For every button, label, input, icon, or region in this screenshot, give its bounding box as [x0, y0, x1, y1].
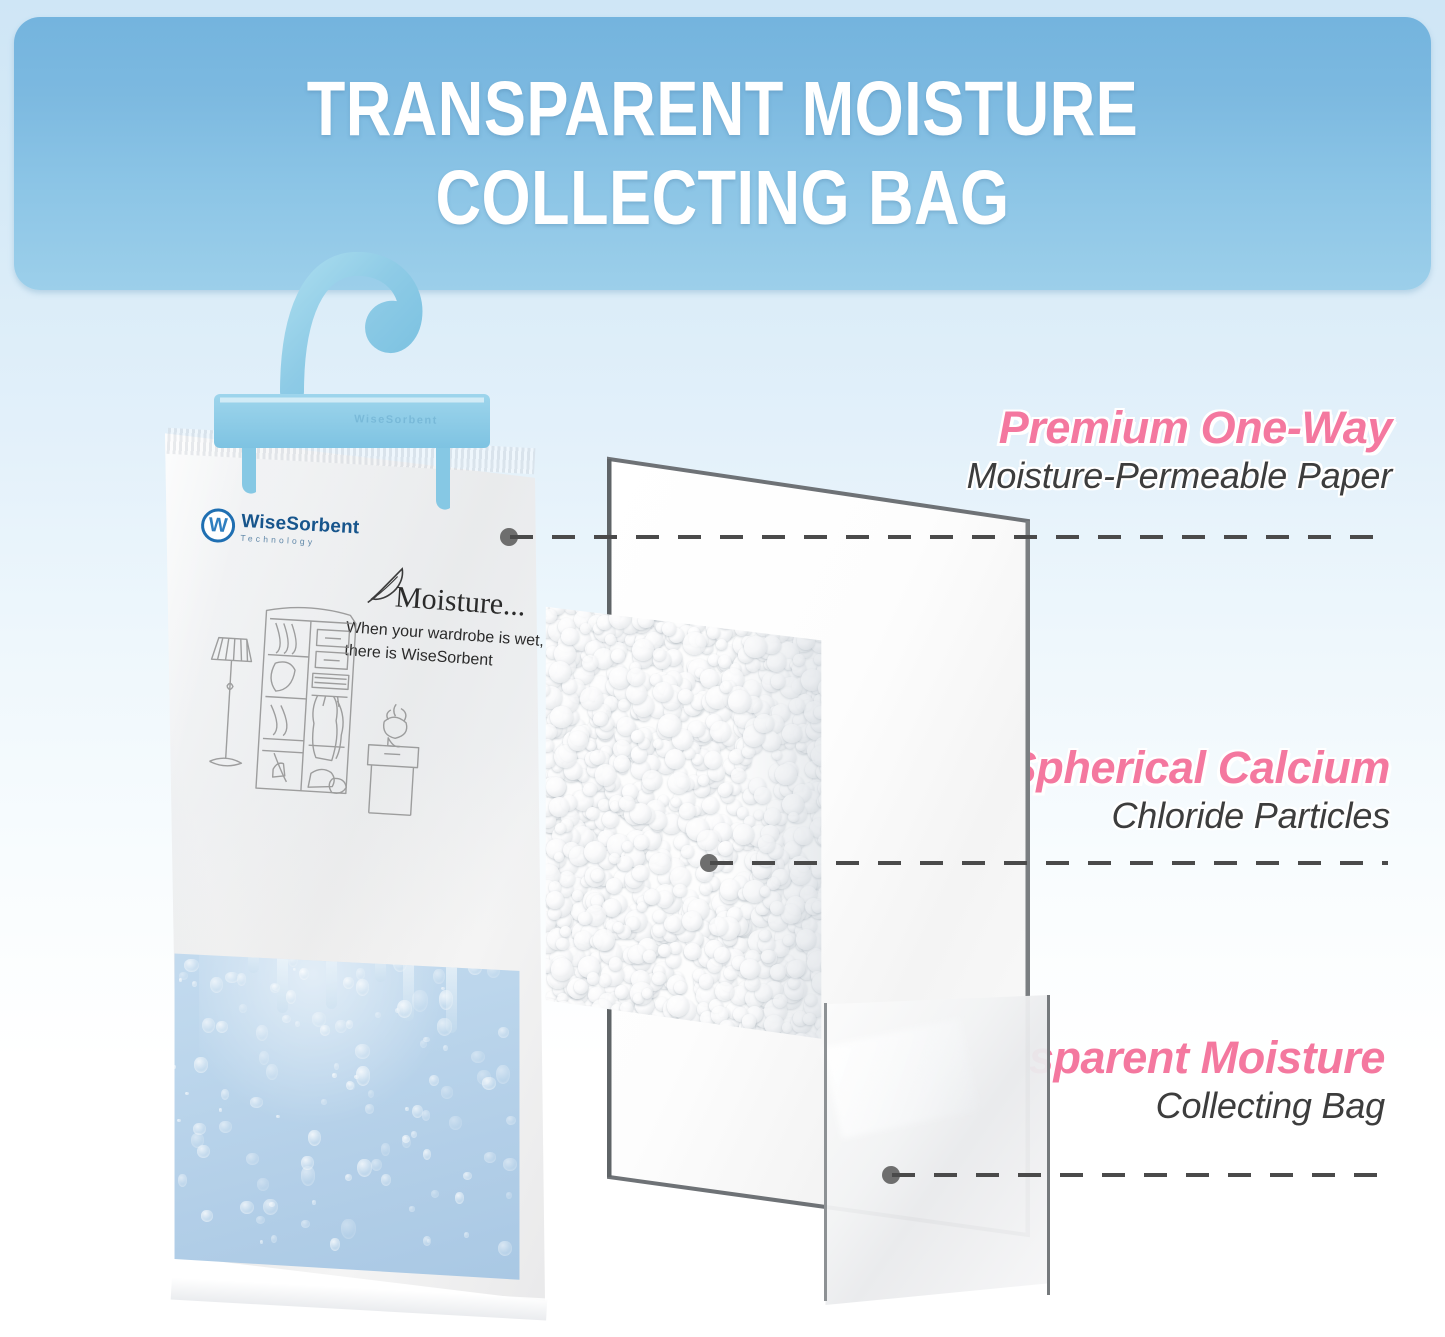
bead: [559, 1042, 580, 1058]
leader-line-transparent-moisture: [882, 1173, 1388, 1177]
bead: [609, 853, 620, 864]
water-droplet: [503, 1158, 517, 1171]
floor-lamp-illustration: [205, 637, 252, 767]
bead: [681, 845, 694, 858]
bead: [579, 1017, 591, 1029]
water-droplet: [405, 1107, 409, 1112]
hanger-icon: WiseSorbent: [196, 252, 526, 512]
bead: [745, 977, 759, 991]
bead: [794, 827, 813, 846]
water-droplet: [412, 990, 428, 1012]
bead: [617, 856, 632, 871]
water-droplet: [194, 1057, 208, 1073]
bead: [669, 942, 681, 954]
bead: [754, 714, 773, 733]
bead: [615, 985, 629, 999]
water-droplet: [263, 1199, 278, 1215]
bead: [760, 886, 770, 896]
water-droplet: [482, 1077, 497, 1090]
water-droplet: [371, 1159, 382, 1171]
water-droplet: [301, 1220, 310, 1228]
bead: [590, 750, 606, 766]
water-droplet: [335, 1020, 346, 1033]
bead: [572, 1040, 585, 1053]
page-title-line-1: TRANSPARENT MOISTURE: [183, 74, 1263, 145]
bead: [704, 751, 722, 769]
water-droplet: [455, 1192, 464, 1204]
water-droplet: [246, 1153, 259, 1165]
water-droplet: [219, 1121, 232, 1134]
bead: [557, 1049, 573, 1058]
water-droplet: [437, 1018, 452, 1036]
bead: [773, 994, 787, 1008]
bead: [575, 1014, 595, 1034]
water-droplet: [397, 1000, 411, 1018]
infographic-canvas: TRANSPARENT MOISTURE COLLECTING BAG W: [0, 0, 1445, 1337]
bead: [584, 1005, 606, 1027]
bead: [698, 775, 709, 786]
water-droplet: [177, 1119, 181, 1123]
leader-dash-1: [510, 535, 1388, 539]
hanger-stamp-text: WiseSorbent: [354, 413, 438, 426]
callout-premium-one-way: Premium One-Way Moisture-Permeable Paper: [967, 405, 1392, 496]
water-droplet: [184, 959, 199, 972]
bead: [556, 1010, 577, 1031]
bead: [593, 929, 615, 951]
water-droplet: [312, 1200, 316, 1204]
bead: [754, 787, 771, 804]
brand-wordmark: WiseSorbent Technology: [240, 512, 360, 549]
bead: [684, 943, 700, 959]
page-title-line-2: COLLECTING BAG: [183, 163, 1263, 234]
callout-1-headline: Premium One-Way: [967, 405, 1392, 451]
water-droplet: [422, 1110, 430, 1121]
water-droplet: [334, 1063, 339, 1070]
bead: [606, 878, 622, 894]
bead: [572, 890, 583, 901]
bead: [772, 750, 782, 760]
water-droplet: [464, 1232, 469, 1238]
bead: [728, 690, 751, 713]
water-droplet: [286, 990, 296, 1003]
bead: [793, 654, 805, 666]
bead: [557, 1049, 572, 1058]
bead: [697, 830, 717, 850]
brand-emblem-letter: W: [208, 515, 228, 536]
bead: [554, 1051, 573, 1058]
bead: [720, 879, 740, 899]
bead: [742, 746, 754, 758]
water-droplet: [308, 1130, 321, 1146]
bead: [614, 755, 631, 772]
water-droplet: [356, 968, 365, 979]
water-droplet: [185, 1092, 189, 1095]
bead: [611, 649, 625, 663]
bead: [720, 681, 732, 693]
bead: [580, 1006, 598, 1024]
bead: [715, 982, 734, 1001]
bead: [570, 1028, 584, 1042]
bead: [559, 871, 575, 887]
bead: [634, 835, 648, 849]
leader-dash-3: [892, 1173, 1388, 1177]
bead: [619, 796, 635, 812]
water-droplet: [411, 1131, 417, 1138]
bead: [796, 929, 817, 950]
bead: [559, 1017, 576, 1034]
water-droplet: [506, 1192, 511, 1198]
water-droplet: [191, 1133, 204, 1147]
bead: [787, 960, 805, 978]
bead: [754, 810, 764, 820]
water-droplet: [431, 1190, 439, 1198]
bead: [683, 632, 706, 655]
water-droplet: [355, 1044, 370, 1059]
side-table-illustration: [365, 703, 421, 816]
bead: [775, 764, 796, 785]
water-droplet: [250, 1097, 263, 1108]
bead: [613, 922, 624, 933]
bead: [556, 938, 569, 951]
bead: [653, 739, 663, 749]
water-droplet: [178, 1174, 187, 1187]
water-droplet: [276, 1115, 279, 1118]
water-droplet: [409, 1206, 415, 1212]
bead: [574, 578, 591, 591]
water-droplet: [225, 972, 239, 983]
water-droplet: [312, 1012, 327, 1027]
water-droplet: [441, 1086, 454, 1099]
bead: [553, 1001, 574, 1022]
bead: [643, 950, 655, 962]
water-droplet: [423, 1236, 430, 1246]
bead: [566, 578, 588, 600]
callout-1-subline: Moisture-Permeable Paper: [967, 455, 1392, 496]
water-droplet: [256, 1216, 265, 1225]
bead: [586, 592, 601, 607]
bead: [572, 1027, 584, 1039]
water-droplet: [201, 1210, 212, 1221]
water-droplet: [496, 1065, 510, 1085]
water-droplet: [320, 1025, 330, 1035]
bead: [579, 585, 599, 605]
bead: [586, 578, 600, 592]
product-bag: W WiseSorbent Technology Moisture... Whe…: [155, 420, 555, 1310]
brand-emblem-icon: W: [200, 508, 236, 544]
bead: [571, 1025, 583, 1037]
bead: [561, 628, 579, 646]
water-droplet: [356, 979, 369, 996]
water-droplet: [449, 1116, 462, 1130]
bead: [758, 835, 776, 853]
bead: [733, 824, 754, 845]
bead: [679, 803, 695, 819]
bead: [770, 964, 786, 980]
bead: [637, 902, 648, 913]
water-droplet: [471, 1051, 485, 1063]
bead: [653, 648, 666, 661]
leader-dash-2: [710, 861, 1388, 865]
leader-line-premium-one-way: [500, 535, 1388, 539]
bead: [593, 712, 607, 726]
film-panel-left-edge: [824, 1003, 827, 1301]
water-droplet: [341, 1219, 356, 1239]
water-droplet: [429, 1075, 439, 1086]
water-droplet: [345, 1174, 352, 1181]
bead: [602, 811, 620, 829]
water-droplet: [346, 1020, 353, 1029]
water-droplet: [498, 1241, 512, 1256]
bead: [642, 770, 662, 790]
bead: [583, 1046, 600, 1058]
water-droplet: [202, 1018, 215, 1033]
bead: [678, 689, 693, 704]
bead: [587, 972, 599, 984]
bead: [563, 1051, 586, 1058]
bead: [555, 823, 566, 834]
bead: [649, 853, 670, 874]
bead: [578, 1007, 593, 1022]
bead: [658, 714, 681, 737]
water-droplet: [266, 1064, 277, 1080]
water-droplet: [423, 1149, 431, 1161]
bead: [580, 687, 603, 710]
bead: [805, 994, 817, 1006]
leader-line-spherical-calcium: [700, 861, 1388, 865]
bead: [789, 698, 806, 715]
water-droplet: [256, 1025, 268, 1041]
water-droplet: [381, 1143, 391, 1156]
water-droplet: [179, 972, 188, 980]
bead: [759, 930, 770, 941]
bead: [582, 655, 598, 671]
bead: [740, 959, 760, 979]
water-droplet: [321, 1099, 327, 1105]
bead: [571, 1014, 592, 1035]
water-droplet: [439, 990, 453, 1009]
water-droplet: [295, 1021, 299, 1026]
water-droplet: [210, 977, 223, 993]
header-banner-inner: TRANSPARENT MOISTURE COLLECTING BAG: [14, 74, 1431, 234]
bead: [718, 655, 731, 668]
water-droplet: [375, 1012, 381, 1018]
bead-field: [540, 578, 830, 1058]
water-droplet: [257, 1178, 269, 1191]
bead: [658, 944, 671, 957]
bead: [555, 1049, 567, 1058]
bead: [586, 807, 599, 820]
bead: [578, 1029, 594, 1045]
bead: [559, 1031, 577, 1049]
bead: [563, 1020, 584, 1041]
water-droplet: [271, 1235, 277, 1243]
bead: [790, 864, 811, 885]
bead: [605, 634, 616, 645]
bead: [742, 1014, 757, 1029]
bead: [642, 988, 653, 999]
film-panel-right-edge: [1047, 995, 1050, 1295]
bead: [631, 730, 644, 743]
bead: [761, 950, 774, 963]
water-droplet: [484, 1152, 496, 1163]
water-droplet: [330, 1238, 340, 1250]
water-collection-window: [171, 936, 523, 1283]
wardrobe-illustration: [179, 588, 437, 822]
water-droplet: [402, 1135, 410, 1143]
water-droplet: [299, 968, 309, 980]
bead: [771, 674, 785, 688]
water-droplet: [357, 1159, 372, 1178]
transparent-collecting-film-panel: [822, 995, 1054, 1305]
bead: [574, 980, 588, 994]
water-droplet: [173, 1065, 176, 1069]
bead: [788, 812, 798, 822]
bead: [665, 749, 685, 769]
water-droplet: [346, 1081, 353, 1090]
water-droplet: [381, 1174, 391, 1186]
water-droplet: [463, 1172, 471, 1180]
bead: [579, 1055, 596, 1058]
bead: [744, 636, 766, 658]
bead: [699, 974, 714, 989]
bead: [556, 585, 568, 597]
bead: [674, 981, 687, 994]
water-droplet: [240, 1201, 253, 1215]
header-banner: TRANSPARENT MOISTURE COLLECTING BAG: [14, 17, 1431, 290]
bead: [782, 1022, 792, 1032]
bead: [767, 652, 786, 671]
bead: [652, 972, 665, 985]
bead: [644, 889, 660, 905]
bead: [558, 1011, 571, 1024]
water-droplet: [260, 1240, 264, 1244]
bead: [583, 783, 597, 797]
bead: [700, 882, 712, 894]
bead: [584, 841, 606, 863]
water-droplet: [282, 1015, 291, 1022]
water-droplet: [506, 1116, 516, 1125]
bead: [579, 1032, 602, 1055]
bead: [627, 668, 645, 686]
bead: [718, 783, 732, 797]
bead: [632, 865, 648, 881]
hanger-brand-stamp: WiseSorbent: [316, 397, 477, 444]
bead: [595, 764, 616, 785]
calcium-chloride-bead-slab: [540, 578, 830, 1058]
water-droplet: [498, 1027, 509, 1038]
bead: [702, 797, 719, 814]
bead: [554, 852, 564, 862]
water-droplet: [192, 981, 197, 987]
bead: [783, 935, 794, 946]
bead: [599, 974, 611, 986]
